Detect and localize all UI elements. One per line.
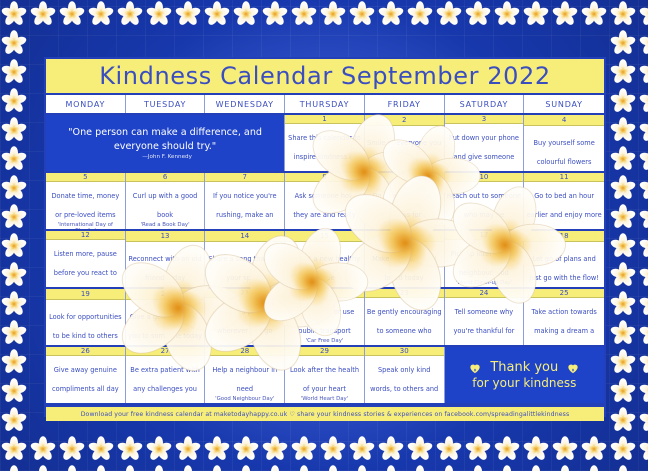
border-flower-icon bbox=[639, 262, 648, 288]
border-flower-icon bbox=[494, 1, 520, 27]
day-activity-text: Look for opportunities to be kind to oth… bbox=[49, 313, 122, 340]
border-flower-icon bbox=[407, 436, 433, 462]
day-cell-21[interactable]: 21Spread peace wherever you go today bbox=[205, 289, 285, 345]
border-flower-icon bbox=[1, 378, 27, 404]
border-flower-icon bbox=[291, 1, 317, 27]
day-body: Give away genuine compliments all day lo… bbox=[46, 356, 125, 403]
border-flower-icon bbox=[610, 1, 636, 27]
day-body: Share this calendar to inspire kindness … bbox=[285, 124, 364, 171]
day-body: Pick up litter in your neighbourhood'Wor… bbox=[445, 240, 524, 287]
day-body: Be gently encouraging to someone who nee… bbox=[365, 298, 444, 345]
border-flower-icon bbox=[610, 204, 636, 230]
border-flower-icon bbox=[523, 1, 549, 27]
day-body: Reconnect with an old friend today bbox=[126, 242, 205, 287]
border-flower-icon bbox=[146, 1, 172, 27]
day-subtitle: 'Car Free Day' bbox=[287, 338, 362, 344]
border-flower-icon bbox=[378, 465, 404, 471]
day-number: 29 bbox=[285, 347, 364, 356]
day-cell-17[interactable]: 17Pick up litter in your neighbourhood'W… bbox=[445, 231, 525, 287]
day-cell-7[interactable]: 7If you notice you're rushing, make an e… bbox=[205, 173, 285, 229]
border-flower-icon bbox=[1, 146, 27, 172]
border-flower-icon bbox=[30, 1, 56, 27]
border-flower-icon bbox=[1, 465, 27, 471]
border-flower-icon bbox=[262, 465, 288, 471]
border-flower-icon bbox=[639, 117, 648, 143]
day-number: 21 bbox=[205, 289, 284, 298]
border-flower-icon bbox=[610, 436, 636, 462]
day-body: Put down your phone and give someone you… bbox=[445, 124, 524, 171]
border-flower-icon bbox=[610, 146, 636, 172]
day-content: Donate time, money or pre-loved items'In… bbox=[48, 183, 123, 229]
border-flower-icon bbox=[117, 465, 143, 471]
day-content: Walk, cycle or use public transport'Car … bbox=[287, 299, 362, 344]
border-flower-icon bbox=[378, 436, 404, 462]
border-flower-icon bbox=[610, 88, 636, 114]
border-flower-icon bbox=[30, 465, 56, 471]
border-flower-icon bbox=[639, 1, 648, 27]
day-body: Donate time, money or pre-loved items'In… bbox=[46, 182, 125, 229]
day-cell-29[interactable]: 29Look after the health of your heart'Wo… bbox=[285, 347, 365, 403]
day-number: 26 bbox=[46, 347, 125, 356]
border-flower-icon bbox=[465, 465, 491, 471]
day-cell-30[interactable]: 30Speak only kind words, to others and t… bbox=[365, 347, 445, 403]
day-subtitle: 'Read a Book Day' bbox=[128, 222, 203, 228]
day-content: Reach out to someone who may be struggli… bbox=[447, 183, 522, 229]
border-flower-icon bbox=[610, 262, 636, 288]
day-cell-12[interactable]: 12Listen more, pause before you react to… bbox=[46, 231, 126, 287]
day-number: 25 bbox=[524, 289, 604, 298]
weekday-header-tuesday: TUESDAY bbox=[126, 95, 206, 113]
border-flower-icon bbox=[349, 436, 375, 462]
border-flower-icon bbox=[407, 465, 433, 471]
border-flower-icon bbox=[262, 1, 288, 27]
day-cell-8[interactable]: 8Ask someone how they are and really lis… bbox=[285, 173, 365, 229]
border-flower-icon bbox=[349, 1, 375, 27]
day-body: Listen more, pause before you react to o… bbox=[46, 240, 125, 287]
border-flower-icon bbox=[262, 436, 288, 462]
day-content: Look after the health of your heart'Worl… bbox=[287, 357, 362, 402]
week-row-1: "One person can make a difference, and e… bbox=[46, 115, 604, 173]
border-flower-icon bbox=[610, 349, 636, 375]
day-activity-text: Curl up with a good book bbox=[133, 192, 198, 219]
day-cell-4[interactable]: 4Buy yourself some colourful flowers bbox=[524, 115, 604, 171]
day-activity-text: Make someone feel loved today bbox=[372, 255, 436, 282]
day-number: 24 bbox=[445, 289, 524, 298]
weekday-header-friday: FRIDAY bbox=[365, 95, 445, 113]
border-flower-icon bbox=[320, 465, 346, 471]
weekday-header-row: MONDAYTUESDAYWEDNESDAYTHURSDAYFRIDAYSATU… bbox=[46, 95, 604, 115]
quote-block: "One person can make a difference, and e… bbox=[46, 115, 285, 171]
day-number: 9 bbox=[365, 173, 444, 182]
weekday-header-monday: MONDAY bbox=[46, 95, 126, 113]
footer-text: Download your free kindness calendar at … bbox=[81, 411, 570, 418]
day-cell-2[interactable]: 2Smile at everyone you meet today bbox=[365, 115, 445, 171]
day-activity-text: Go to bed an hour earlier and enjoy more… bbox=[527, 192, 602, 229]
border-flower-icon bbox=[1, 262, 27, 288]
day-number: 17 bbox=[445, 231, 524, 240]
day-content: Make someone feel loved today bbox=[367, 246, 442, 284]
calendar-footer-bar: Download your free kindness calendar at … bbox=[46, 405, 604, 421]
day-content: Take action towards making a dream a rea… bbox=[526, 299, 602, 345]
border-flower-icon bbox=[1, 117, 27, 143]
day-activity-text: Share this calendar to inspire kindness … bbox=[288, 134, 361, 171]
border-flower-icon bbox=[639, 30, 648, 56]
day-content: Go to bed an hour earlier and enjoy more… bbox=[526, 183, 602, 229]
day-activity-text: Smile at everyone you meet today bbox=[367, 139, 441, 166]
day-body: Let go of plans and just go with the flo… bbox=[524, 242, 604, 287]
border-flower-icon bbox=[204, 465, 230, 471]
border-flower-icon bbox=[436, 1, 462, 27]
border-flower-icon bbox=[378, 1, 404, 27]
border-flower-icon bbox=[639, 291, 648, 317]
day-body: Share a song that lifts your spirits bbox=[205, 242, 284, 287]
border-flower-icon bbox=[581, 465, 607, 471]
day-activity-text: Give away genuine compliments all day lo… bbox=[52, 366, 119, 403]
thank-you-text: Thank you bbox=[490, 360, 558, 375]
border-flower-icon bbox=[610, 407, 636, 433]
day-number: 4 bbox=[524, 115, 604, 126]
border-flower-icon bbox=[581, 1, 607, 27]
day-activity-text: Tell someone why you're thankful for the… bbox=[453, 308, 514, 345]
day-cell-10[interactable]: 10Reach out to someone who may be strugg… bbox=[445, 173, 525, 229]
day-content: Spread peace wherever you go today bbox=[207, 299, 282, 345]
day-cell-23[interactable]: 23Be gently encouraging to someone who n… bbox=[365, 289, 445, 345]
day-number: 1 bbox=[285, 115, 364, 124]
day-cell-18[interactable]: 18Let go of plans and just go with the f… bbox=[524, 231, 604, 287]
day-cell-19[interactable]: 19Look for opportunities to be kind to o… bbox=[46, 289, 126, 345]
border-flower-icon bbox=[552, 465, 578, 471]
day-activity-text: Give a genuine thank you to someone toda… bbox=[128, 313, 202, 340]
border-flower-icon bbox=[494, 436, 520, 462]
day-activity-text: If you notice you're rushing, make an ef… bbox=[213, 192, 277, 229]
day-cell-11[interactable]: 11Go to bed an hour earlier and enjoy mo… bbox=[524, 173, 604, 229]
day-body: Buy yourself some colourful flowers bbox=[524, 126, 604, 171]
day-subtitle: 'Good Neighbour Day' bbox=[207, 396, 282, 402]
border-flower-icon bbox=[552, 436, 578, 462]
day-content: Pick up litter in your neighbourhood'Wor… bbox=[447, 241, 522, 286]
border-flower-icon bbox=[1, 349, 27, 375]
day-cell-20[interactable]: 20Give a genuine thank you to someone to… bbox=[126, 289, 206, 345]
day-body: Look after the health of your heart'Worl… bbox=[285, 356, 364, 403]
day-content: Let go of plans and just go with the flo… bbox=[526, 246, 602, 284]
day-activity-text: Be extra patient with any challenges you… bbox=[130, 366, 200, 403]
border-flower-icon bbox=[552, 1, 578, 27]
border-flower-icon bbox=[610, 59, 636, 85]
day-content: Try out a new healthy recipe bbox=[287, 246, 362, 284]
day-number: 28 bbox=[205, 347, 284, 356]
border-flower-icon bbox=[204, 436, 230, 462]
day-number: 18 bbox=[524, 231, 604, 242]
day-number: 30 bbox=[365, 347, 444, 356]
border-flower-icon bbox=[436, 465, 462, 471]
border-flower-icon bbox=[1, 1, 27, 27]
day-activity-text: Donate time, money or pre-loved items bbox=[51, 192, 119, 219]
border-flower-icon bbox=[639, 349, 648, 375]
border-flower-icon bbox=[1, 59, 27, 85]
calendar-page: Kindness Calendar September 2022 MONDAYT… bbox=[0, 0, 648, 471]
border-flower-icon bbox=[291, 465, 317, 471]
day-number: 16 bbox=[365, 231, 444, 242]
border-flower-icon bbox=[1, 30, 27, 56]
border-flower-icon bbox=[639, 59, 648, 85]
border-flower-icon bbox=[1, 291, 27, 317]
week-row-5: 26Give away genuine compliments all day … bbox=[46, 347, 604, 405]
day-activity-text: Take action towards making a dream a rea… bbox=[531, 308, 596, 345]
border-flower-icon bbox=[494, 465, 520, 471]
border-flower-icon bbox=[639, 436, 648, 462]
border-flower-icon bbox=[59, 465, 85, 471]
day-number: 2 bbox=[365, 115, 444, 126]
day-content: Be gently encouraging to someone who nee… bbox=[367, 299, 442, 345]
border-flower-icon bbox=[610, 465, 636, 471]
day-subtitle: 'International Day of Charity' bbox=[48, 222, 123, 229]
day-content: Put down your phone and give someone you… bbox=[447, 125, 522, 171]
day-content: Listen more, pause before you react to o… bbox=[48, 241, 123, 287]
day-content: Give a genuine thank you to someone toda… bbox=[128, 304, 203, 342]
day-cell-22[interactable]: 22Walk, cycle or use public transport'Ca… bbox=[285, 289, 365, 345]
day-content: Share this calendar to inspire kindness … bbox=[287, 125, 362, 171]
border-flower-icon bbox=[30, 436, 56, 462]
day-activity-text: Listen more, pause before you react to o… bbox=[54, 250, 117, 287]
border-flower-icon bbox=[610, 291, 636, 317]
day-activity-text: Help a neighbour in need bbox=[212, 366, 277, 393]
day-body: Do a random act of kindness for a strang… bbox=[365, 182, 444, 229]
day-body: Walk, cycle or use public transport'Car … bbox=[285, 298, 364, 345]
day-cell-26[interactable]: 26Give away genuine compliments all day … bbox=[46, 347, 126, 403]
day-number: 20 bbox=[126, 289, 205, 300]
day-body: Reach out to someone who may be struggli… bbox=[445, 182, 524, 229]
thank-you-line-1: Thank you bbox=[468, 360, 580, 375]
border-flower-icon bbox=[233, 1, 259, 27]
day-cell-5[interactable]: 5Donate time, money or pre-loved items'I… bbox=[46, 173, 126, 229]
border-flower-icon bbox=[117, 436, 143, 462]
day-activity-text: Walk, cycle or use public transport bbox=[295, 308, 355, 335]
day-body: Take action towards making a dream a rea… bbox=[524, 298, 604, 345]
border-flower-icon bbox=[465, 436, 491, 462]
border-flower-icon bbox=[204, 1, 230, 27]
day-activity-text: Try out a new healthy recipe bbox=[289, 255, 360, 282]
weeks-container: "One person can make a difference, and e… bbox=[46, 115, 604, 405]
day-body: Look for opportunities to be kind to oth… bbox=[46, 300, 125, 345]
border-flower-icon bbox=[610, 117, 636, 143]
day-number: 10 bbox=[445, 173, 524, 182]
day-cell-15[interactable]: 15Try out a new healthy recipe bbox=[285, 231, 365, 287]
day-cell-25[interactable]: 25Take action towards making a dream a r… bbox=[524, 289, 604, 345]
border-flower-icon bbox=[291, 436, 317, 462]
day-activity-text: Spread peace wherever you go today bbox=[217, 308, 272, 345]
day-body: Ask someone how they are and really list… bbox=[285, 182, 364, 229]
week-row-3: 12Listen more, pause before you react to… bbox=[46, 231, 604, 289]
day-number: 11 bbox=[524, 173, 604, 182]
week-row-2: 5Donate time, money or pre-loved items'I… bbox=[46, 173, 604, 231]
border-flower-icon bbox=[88, 1, 114, 27]
border-flower-icon bbox=[639, 233, 648, 259]
day-body: If you notice you're rushing, make an ef… bbox=[205, 182, 284, 229]
day-content: Curl up with a good book'Read a Book Day… bbox=[128, 183, 203, 228]
day-body: Go to bed an hour earlier and enjoy more… bbox=[524, 182, 604, 229]
day-content: Buy yourself some colourful flowers bbox=[526, 130, 602, 168]
border-flower-icon bbox=[639, 175, 648, 201]
day-activity-text: Reach out to someone who may be struggli… bbox=[447, 192, 521, 229]
border-flower-icon bbox=[175, 436, 201, 462]
weekday-header-saturday: SATURDAY bbox=[445, 95, 525, 113]
day-number: 22 bbox=[285, 289, 364, 298]
day-body: Give a genuine thank you to someone toda… bbox=[126, 300, 205, 345]
border-flower-icon bbox=[610, 233, 636, 259]
heart-icon bbox=[566, 361, 580, 375]
thank-you-block: Thank youfor your kindness bbox=[445, 347, 604, 403]
day-activity-text: Ask someone how they are and really list… bbox=[289, 192, 359, 229]
day-number: 15 bbox=[285, 231, 364, 242]
day-activity-text: Be gently encouraging to someone who nee… bbox=[367, 308, 442, 345]
border-flower-icon bbox=[175, 465, 201, 471]
weekday-header-wednesday: WEDNESDAY bbox=[205, 95, 285, 113]
border-flower-icon bbox=[1, 233, 27, 259]
border-flower-icon bbox=[59, 436, 85, 462]
border-flower-icon bbox=[320, 436, 346, 462]
day-body: Spread peace wherever you go today bbox=[205, 298, 284, 345]
border-flower-icon bbox=[59, 1, 85, 27]
day-body: Make someone feel loved today bbox=[365, 242, 444, 287]
border-flower-icon bbox=[1, 320, 27, 346]
day-activity-text: Buy yourself some colourful flowers bbox=[534, 139, 595, 166]
calendar-title-bar: Kindness Calendar September 2022 bbox=[46, 59, 604, 95]
day-subtitle: 'World Heart Day' bbox=[287, 396, 362, 402]
heart-icon bbox=[468, 361, 482, 375]
border-flower-icon bbox=[349, 465, 375, 471]
day-activity-text: Put down your phone and give someone you… bbox=[449, 134, 519, 171]
day-body: Speak only kind words, to others and to … bbox=[365, 356, 444, 403]
border-flower-icon bbox=[88, 465, 114, 471]
day-content: Do a random act of kindness for a strang… bbox=[367, 183, 442, 229]
day-number: 6 bbox=[126, 173, 205, 182]
border-flower-icon bbox=[1, 436, 27, 462]
border-flower-icon bbox=[581, 436, 607, 462]
day-content: Look for opportunities to be kind to oth… bbox=[48, 304, 123, 342]
border-flower-icon bbox=[1, 407, 27, 433]
day-content: Help a neighbour in need'Good Neighbour … bbox=[207, 357, 282, 402]
day-number: 5 bbox=[46, 173, 125, 182]
border-flower-icon bbox=[523, 436, 549, 462]
day-number: 7 bbox=[205, 173, 284, 182]
day-cell-24[interactable]: 24Tell someone why you're thankful for t… bbox=[445, 289, 525, 345]
day-cell-28[interactable]: 28Help a neighbour in need'Good Neighbou… bbox=[205, 347, 285, 403]
day-activity-text: Do a random act of kindness for a strang… bbox=[372, 192, 436, 229]
quote-author: —John F. Kennedy bbox=[142, 154, 192, 160]
border-flower-icon bbox=[610, 175, 636, 201]
weekday-header-sunday: SUNDAY bbox=[524, 95, 604, 113]
border-flower-icon bbox=[523, 465, 549, 471]
day-number: 8 bbox=[285, 173, 364, 182]
day-content: Speak only kind words, to others and to … bbox=[367, 357, 442, 403]
day-content: Reconnect with an old friend today bbox=[128, 246, 203, 284]
day-cell-13[interactable]: 13Reconnect with an old friend today bbox=[126, 231, 206, 287]
day-number: 19 bbox=[46, 289, 125, 300]
day-number: 14 bbox=[205, 231, 284, 242]
border-flower-icon bbox=[639, 146, 648, 172]
weekday-header-thursday: THURSDAY bbox=[285, 95, 365, 113]
border-flower-icon bbox=[639, 88, 648, 114]
day-number: 3 bbox=[445, 115, 524, 124]
quote-text: "One person can make a difference, and e… bbox=[52, 126, 278, 155]
day-content: Share a song that lifts your spirits bbox=[207, 246, 282, 284]
day-cell-14[interactable]: 14Share a song that lifts your spirits bbox=[205, 231, 285, 287]
border-flower-icon bbox=[407, 1, 433, 27]
border-flower-icon bbox=[436, 436, 462, 462]
day-content: Smile at everyone you meet today bbox=[367, 130, 442, 168]
day-body: Tell someone why you're thankful for the… bbox=[445, 298, 524, 345]
border-flower-icon bbox=[175, 1, 201, 27]
day-body: Curl up with a good book'Read a Book Day… bbox=[126, 182, 205, 229]
day-number: 12 bbox=[46, 231, 125, 240]
day-number: 13 bbox=[126, 231, 205, 242]
day-content: Ask someone how they are and really list… bbox=[287, 183, 362, 229]
day-cell-16[interactable]: 16Make someone feel loved today bbox=[365, 231, 445, 287]
day-cell-9[interactable]: 9Do a random act of kindness for a stran… bbox=[365, 173, 445, 229]
day-subtitle: 'World Clean-up Day' bbox=[447, 280, 522, 286]
day-cell-6[interactable]: 6Curl up with a good book'Read a Book Da… bbox=[126, 173, 206, 229]
day-activity-text: Speak only kind words, to others and to … bbox=[370, 366, 438, 403]
day-content: If you notice you're rushing, make an ef… bbox=[207, 183, 282, 229]
day-activity-text: Pick up litter in your neighbourhood bbox=[451, 250, 517, 277]
border-flower-icon bbox=[610, 378, 636, 404]
day-activity-text: Look after the health of your heart bbox=[290, 366, 359, 393]
border-flower-icon bbox=[88, 436, 114, 462]
day-activity-text: Share a song that lifts your spirits bbox=[208, 255, 281, 282]
day-body: Try out a new healthy recipe bbox=[285, 242, 364, 287]
day-activity-text: Reconnect with an old friend today bbox=[128, 255, 201, 282]
border-flower-icon bbox=[117, 1, 143, 27]
border-flower-icon bbox=[639, 320, 648, 346]
border-flower-icon bbox=[320, 1, 346, 27]
day-number: 27 bbox=[126, 347, 205, 356]
day-body: Help a neighbour in need'Good Neighbour … bbox=[205, 356, 284, 403]
border-flower-icon bbox=[146, 436, 172, 462]
border-flower-icon bbox=[610, 320, 636, 346]
border-flower-icon bbox=[233, 465, 259, 471]
border-flower-icon bbox=[639, 204, 648, 230]
day-content: Be extra patient with any challenges you… bbox=[128, 357, 203, 403]
day-activity-text: Let go of plans and just go with the flo… bbox=[529, 255, 599, 282]
week-row-4: 19Look for opportunities to be kind to o… bbox=[46, 289, 604, 347]
day-body: Smile at everyone you meet today bbox=[365, 126, 444, 171]
day-body: Be extra patient with any challenges you… bbox=[126, 356, 205, 403]
page-title: Kindness Calendar September 2022 bbox=[99, 62, 551, 90]
border-flower-icon bbox=[146, 465, 172, 471]
day-cell-27[interactable]: 27Be extra patient with any challenges y… bbox=[126, 347, 206, 403]
thank-you-line-2: for your kindness bbox=[472, 376, 576, 390]
border-flower-icon bbox=[639, 465, 648, 471]
border-flower-icon bbox=[1, 204, 27, 230]
day-content: Tell someone why you're thankful for the… bbox=[447, 299, 522, 345]
day-number: 23 bbox=[365, 289, 444, 298]
calendar-card: Kindness Calendar September 2022 MONDAYT… bbox=[44, 57, 606, 417]
border-flower-icon bbox=[639, 378, 648, 404]
border-flower-icon bbox=[233, 436, 259, 462]
day-cell-3[interactable]: 3Put down your phone and give someone yo… bbox=[445, 115, 525, 171]
border-flower-icon bbox=[639, 407, 648, 433]
day-cell-1[interactable]: 1Share this calendar to inspire kindness… bbox=[285, 115, 365, 171]
border-flower-icon bbox=[1, 88, 27, 114]
border-flower-icon bbox=[465, 1, 491, 27]
border-flower-icon bbox=[1, 175, 27, 201]
border-flower-icon bbox=[610, 30, 636, 56]
day-content: Give away genuine compliments all day lo… bbox=[48, 357, 123, 403]
